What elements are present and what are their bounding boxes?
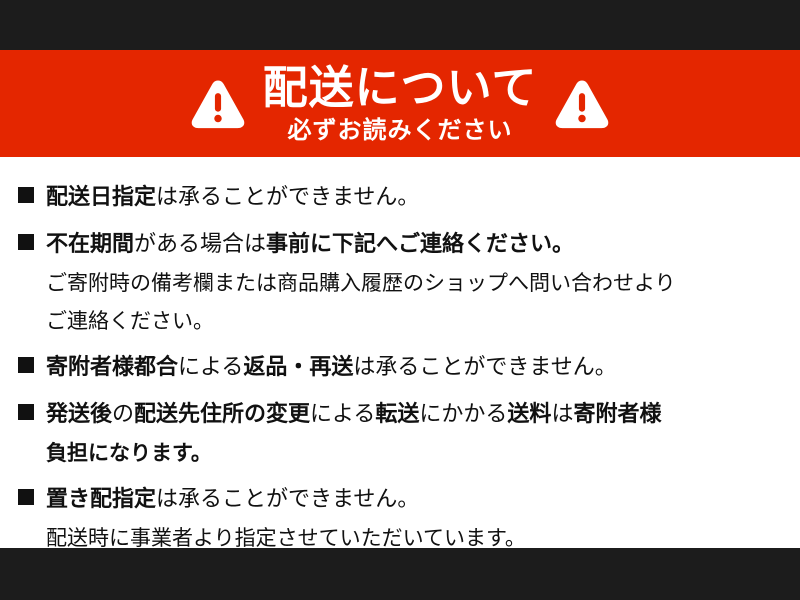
notice-subline: ご連絡ください。 [46,302,786,340]
bullet-square-icon [18,187,34,203]
top-letterbox-bar [0,0,800,50]
bullet-square-icon [18,489,34,505]
emphasis-text: 不在期間 [46,232,134,257]
body-text: ご寄附時の備考欄または商品購入履歴のショップへ問い合わせより [46,271,676,295]
banner-title: 配送について [263,64,538,111]
header-banner: 配送について 必ずお読みください [0,50,800,157]
body-text: は承ることができません。 [353,355,616,380]
emphasis-text: 事前に下記へご連絡ください。 [266,232,574,257]
notice-item: 置き配指定は承ることができません。配送時に事業者より指定させていただいています。 [18,481,786,557]
emphasis-text: 置き配指定 [46,487,156,512]
notice-item: 配送日指定は承ることができません。 [18,179,786,217]
body-text: 配送時に事業者より指定させていただいています。 [46,526,526,550]
emphasis-text: 配送日指定 [46,185,156,210]
emphasis-text: 転送 [375,402,419,427]
notice-item: 発送後の配送先住所の変更による転送にかかる送料は寄附者様負担になります。 [18,396,786,472]
body-text: は [551,402,573,427]
body-text: がある場合は [134,232,266,257]
emphasis-text: 負担になります。 [46,441,212,465]
body-text: による [178,355,243,380]
notice-subline: 負担になります。 [46,434,786,472]
notice-mainline: 寄附者様都合による返品・再送は承ることができません。 [46,349,786,387]
body-text: にかかる [419,402,507,427]
body-text: ご連絡ください。 [46,309,214,333]
notice-item: 寄附者様都合による返品・再送は承ることができません。 [18,349,786,387]
warning-triangle-icon [553,75,611,133]
emphasis-text: 返品・再送 [243,355,353,380]
notice-item: 不在期間がある場合は事前に下記へご連絡ください。ご寄附時の備考欄または商品購入履… [18,226,786,340]
bullet-square-icon [18,234,34,250]
banner-subtitle: 必ずお読みください [288,118,513,143]
notice-list: 配送日指定は承ることができません。不在期間がある場合は事前に下記へご連絡ください… [0,157,800,548]
banner-text-block: 配送について 必ずお読みください [263,64,538,143]
notice-mainline: 置き配指定は承ることができません。 [46,481,786,519]
body-text: による [310,402,375,427]
notice-mainline: 不在期間がある場合は事前に下記へご連絡ください。 [46,226,786,264]
notice-mainline: 発送後の配送先住所の変更による転送にかかる送料は寄附者様 [46,396,786,434]
emphasis-text: 寄附者様 [573,402,661,427]
bullet-square-icon [18,404,34,420]
shipping-notice-page: 配送について 必ずお読みください 配送日指定は承ることができません。不在期間があ… [0,0,800,600]
body-text: は承ることができません。 [156,487,419,512]
emphasis-text: 発送後 [46,402,112,427]
bullet-square-icon [18,357,34,373]
bottom-letterbox-bar [0,548,800,600]
warning-triangle-icon [189,75,247,133]
notice-mainline: 配送日指定は承ることができません。 [46,179,786,217]
emphasis-text: 寄附者様都合 [46,355,178,380]
body-text: は承ることができません。 [156,185,419,210]
body-text: の [112,402,134,427]
emphasis-text: 配送先住所の変更 [134,402,310,427]
emphasis-text: 送料 [507,402,551,427]
notice-subline: ご寄附時の備考欄または商品購入履歴のショップへ問い合わせより [46,264,786,302]
